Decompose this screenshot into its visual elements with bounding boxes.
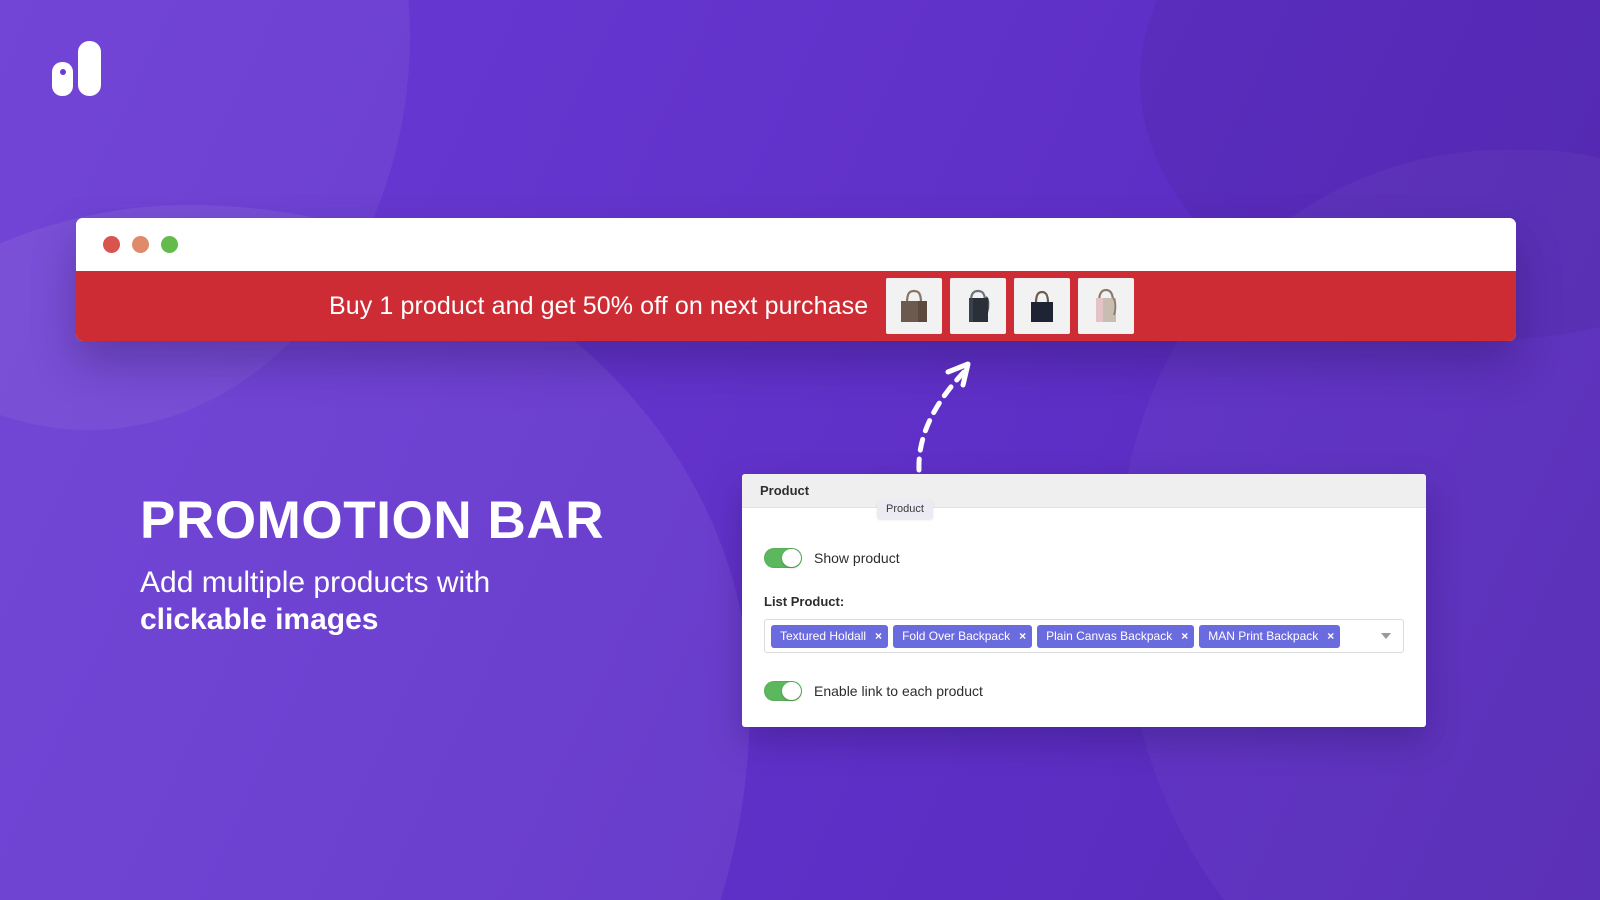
dashed-curved-arrow-icon: [890, 348, 1010, 478]
backpack-black-icon: [958, 285, 998, 327]
toggle-knob: [782, 682, 801, 700]
logo-large-bar-icon: [78, 41, 101, 96]
list-product-label: List Product:: [764, 594, 1404, 609]
product-tag-plain-canvas-backpack[interactable]: Plain Canvas Backpack ×: [1037, 625, 1194, 648]
browser-window-mock: Buy 1 product and get 50% off on next pu…: [76, 218, 1516, 341]
show-product-row: Show product: [764, 548, 1404, 568]
remove-tag-icon[interactable]: ×: [875, 630, 882, 642]
close-dot-icon[interactable]: [103, 236, 120, 253]
panel-body: Product Show product List Product: Textu…: [742, 508, 1426, 727]
remove-tag-icon[interactable]: ×: [1019, 630, 1026, 642]
product-thumbnail-fold-over-backpack[interactable]: [950, 278, 1006, 334]
product-tag-label: Textured Holdall: [780, 629, 866, 643]
product-thumbnail-plain-canvas-backpack[interactable]: [1014, 278, 1070, 334]
product-tag-fold-over-backpack[interactable]: Fold Over Backpack ×: [893, 625, 1032, 648]
enable-link-toggle[interactable]: [764, 681, 802, 701]
promotion-thumbnail-list: [886, 278, 1134, 334]
maximize-dot-icon[interactable]: [161, 236, 178, 253]
promotion-bar: Buy 1 product and get 50% off on next pu…: [76, 271, 1516, 341]
toggle-knob: [782, 549, 801, 567]
hero-subtitle-line-1: Add multiple products with: [140, 566, 490, 599]
show-product-toggle[interactable]: [764, 548, 802, 568]
product-tag-label: Plain Canvas Backpack: [1046, 629, 1172, 643]
panel-header: Product: [742, 474, 1426, 508]
product-tag-textured-holdall[interactable]: Textured Holdall ×: [771, 625, 888, 648]
tote-bag-navy-icon: [1022, 285, 1062, 327]
product-tag-man-print-backpack[interactable]: MAN Print Backpack ×: [1199, 625, 1340, 648]
browser-titlebar: [76, 218, 1516, 271]
minimize-dot-icon[interactable]: [132, 236, 149, 253]
enable-link-row: Enable link to each product: [764, 681, 1404, 701]
list-product-tag-input[interactable]: Textured Holdall × Fold Over Backpack × …: [764, 619, 1404, 653]
chevron-down-icon[interactable]: [1381, 633, 1391, 639]
remove-tag-icon[interactable]: ×: [1327, 630, 1334, 642]
tote-bag-pink-icon: [1086, 285, 1126, 327]
product-thumbnail-textured-holdall[interactable]: [886, 278, 942, 334]
product-tooltip: Product: [877, 500, 933, 519]
page-title: PROMOTION BAR: [140, 492, 604, 549]
tote-bag-brown-icon: [894, 285, 934, 327]
promotion-message: Buy 1 product and get 50% off on next pu…: [329, 292, 868, 321]
product-tag-label: MAN Print Backpack: [1208, 629, 1318, 643]
hero-text-block: PROMOTION BAR Add multiple products with…: [140, 492, 604, 638]
show-product-label: Show product: [814, 550, 900, 566]
hero-subtitle-line-2: clickable images: [140, 602, 604, 639]
product-settings-panel: Product Product Show product List Produc…: [742, 474, 1426, 727]
panel-header-title: Product: [760, 483, 809, 498]
logo-small-bar-icon: [52, 62, 73, 96]
product-tag-label: Fold Over Backpack: [902, 629, 1010, 643]
hero-subtitle: Add multiple products with clickable ima…: [140, 565, 604, 638]
promotion-bar-hero-stage: Buy 1 product and get 50% off on next pu…: [0, 0, 1600, 900]
app-logo-icon: [52, 38, 110, 96]
product-thumbnail-man-print-backpack[interactable]: [1078, 278, 1134, 334]
enable-link-label: Enable link to each product: [814, 683, 983, 699]
remove-tag-icon[interactable]: ×: [1181, 630, 1188, 642]
